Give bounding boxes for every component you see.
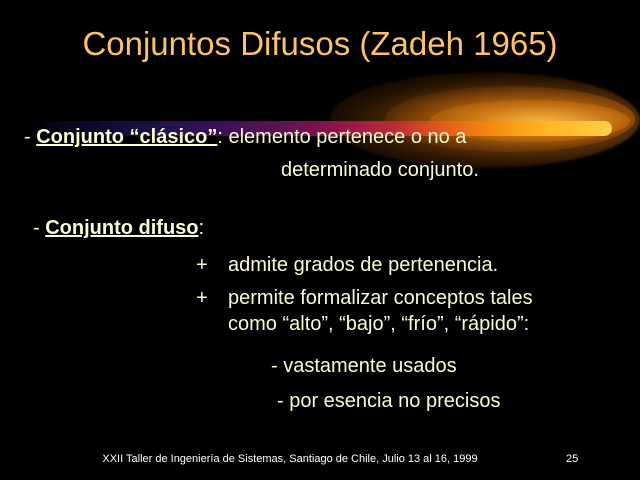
emphasis-conjunto-clasico: Conjunto “clásico” — [36, 126, 217, 148]
bullet-line-precisos: - por esencia no precisos — [277, 388, 500, 414]
bullet-text-precisos: - por esencia no precisos — [277, 390, 500, 412]
bullet-line-como: como “alto”, “bajo”, “frío”, “rápido”: — [228, 311, 529, 337]
glow-halo-outer-icon — [330, 72, 640, 168]
footer-page-number: 25 — [566, 452, 596, 466]
bullet-marker-plus: + — [196, 252, 228, 278]
bullet-text-admite: admite grados de pertenencia. — [228, 254, 498, 276]
bullet-text-permite: permite formalizar conceptos tales — [228, 287, 533, 309]
bullet-text-clasico: : elemento pertenece o no a — [217, 126, 466, 148]
presentation-slide: Conjuntos Difusos (Zadeh 1965) - Conjunt… — [0, 0, 640, 480]
bullet-text-difuso: : — [199, 217, 205, 239]
bullet-marker-dash: - — [24, 126, 31, 148]
bullet-line-determinado: determinado conjunto. — [281, 157, 479, 183]
emphasis-conjunto-difuso: Conjunto difuso — [45, 217, 198, 239]
bullet-marker-dash: - — [33, 217, 40, 239]
bullet-text-como: como “alto”, “bajo”, “frío”, “rápido”: — [228, 313, 529, 335]
bullet-line-clasico: - Conjunto “clásico”: elemento pertenece… — [24, 124, 466, 150]
bullet-line-permite: +permite formalizar conceptos tales — [196, 285, 533, 311]
bullet-text-determinado: determinado conjunto. — [281, 159, 479, 181]
slide-title: Conjuntos Difusos (Zadeh 1965) — [0, 24, 640, 64]
footer-conference-text: XXII Taller de Ingeniería de Sistemas, S… — [0, 452, 640, 466]
bullet-marker-plus: + — [196, 285, 228, 311]
bullet-line-admite: +admite grados de pertenencia. — [196, 252, 498, 278]
bullet-text-vastamente: - vastamente usados — [271, 355, 457, 377]
bullet-line-difuso: - Conjunto difuso: — [33, 215, 204, 241]
bullet-line-vastamente: - vastamente usados — [271, 353, 457, 379]
